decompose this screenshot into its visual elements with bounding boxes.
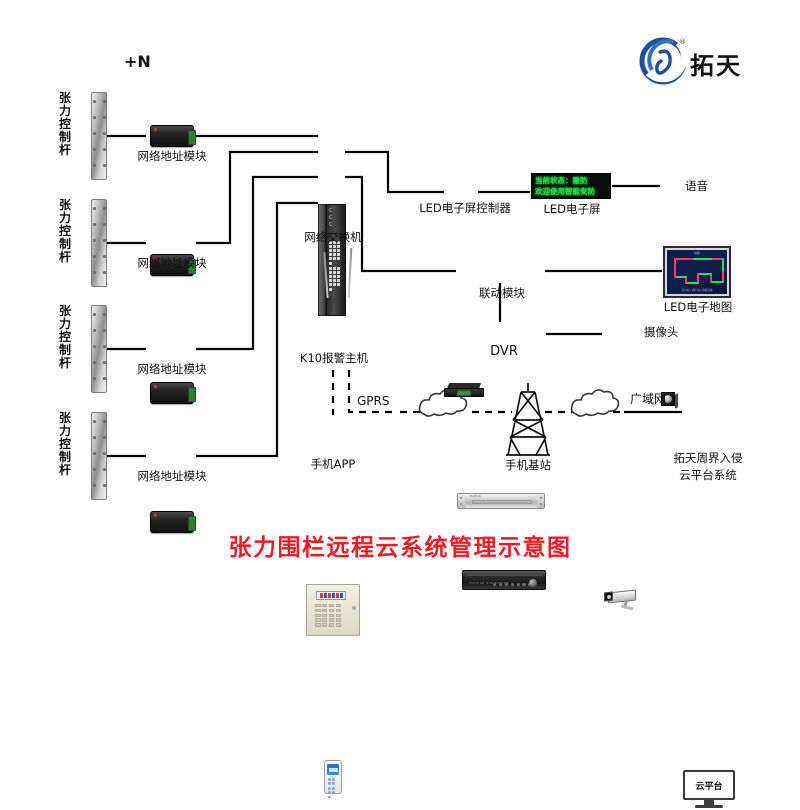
cloud-icon-right — [572, 390, 619, 416]
pole-label-1: 张力控制杆 — [58, 92, 72, 157]
camera-label: 摄像头 — [644, 326, 679, 339]
led-screen-icon[interactable]: 当前状态：撤防 欢迎使用智能安防 — [531, 173, 611, 199]
dvr-label: DVR — [470, 345, 538, 360]
linkage-module-icon[interactable]: TUOTIAN — [457, 493, 545, 509]
tension-control-pole-2 — [91, 199, 107, 287]
power-led-icon — [154, 128, 157, 131]
cloud-platform-label-line2: 云平台系统 — [648, 469, 768, 482]
plus-n-annotation: +N — [124, 52, 151, 71]
led-screen-line1: 当前状态：撤防 — [535, 175, 607, 186]
linkage-module-label: 联动模块 — [463, 287, 541, 300]
voice-label: 语音 — [685, 180, 708, 193]
alarm-host-label: K10报警主机 — [288, 352, 380, 365]
page-title: 张力围栏远程云系统管理示意图 — [0, 528, 800, 562]
led-screen-label: LED电子屏 — [531, 203, 613, 216]
led-controller-label: LED电子屏控制器 — [413, 202, 517, 215]
brand-name: 拓天 — [690, 46, 742, 81]
pole-label-3: 张力控制杆 — [58, 305, 72, 370]
led-map-label: LED电子地图 — [648, 301, 748, 314]
power-led-icon — [154, 385, 157, 388]
mobile-phone-icon[interactable] — [324, 760, 342, 794]
registered-mark: ® — [679, 38, 686, 46]
led-screen-line2: 欢迎使用智能安防 — [535, 186, 607, 197]
diagram-canvas: 拓天 ® +N 张力控制杆 张力控制杆 张力控制杆 — [0, 0, 800, 600]
module-label-4: 网络地址模块 — [128, 470, 216, 483]
wan-label: 广域网 — [630, 393, 666, 407]
power-led-icon — [154, 514, 157, 517]
monitor-screen-text: 云平台 — [695, 779, 722, 792]
base-station-label: 手机基站 — [492, 459, 564, 472]
pole-label-2: 张力控制杆 — [58, 199, 72, 264]
module-label-2: 网络地址模块 — [128, 257, 216, 270]
tension-control-pole-3 — [91, 305, 107, 393]
phone-app-label: 手机APP — [298, 458, 368, 471]
switch-label: 网络交换机 — [288, 231, 378, 244]
alarm-host-icon[interactable] — [306, 584, 360, 636]
module-label-1: 网络地址模块 — [128, 150, 216, 163]
tuotian-swirl-logo — [642, 40, 684, 82]
module-label-3: 网络地址模块 — [128, 363, 216, 376]
monitor-icon[interactable]: 云平台 — [683, 770, 735, 810]
network-address-module-1[interactable] — [150, 125, 194, 147]
cell-tower-icon — [506, 383, 550, 455]
cloud-platform-label-line1: 拓天周界入侵 — [648, 452, 768, 465]
terminal-block-icon — [188, 387, 196, 402]
tension-control-pole-1 — [91, 92, 107, 180]
dvr-icon[interactable]: TUOTIAN DVR SYSTEM — [462, 570, 546, 590]
camera-icon[interactable] — [602, 588, 642, 610]
terminal-block-icon — [188, 130, 196, 145]
led-map-icon[interactable]: 地图 张力电子围栏电子地图系统 — [663, 246, 731, 298]
network-address-module-3[interactable] — [150, 382, 194, 404]
led-map-screen-caption: 张力电子围栏电子地图系统 — [667, 288, 727, 292]
gprs-label: GPRS — [357, 395, 390, 409]
pole-label-4: 张力控制杆 — [58, 412, 72, 477]
network-switch-icon[interactable]: CCC — [318, 204, 346, 316]
tension-control-pole-4 — [91, 412, 107, 500]
led-controller-icon[interactable] — [444, 383, 484, 397]
